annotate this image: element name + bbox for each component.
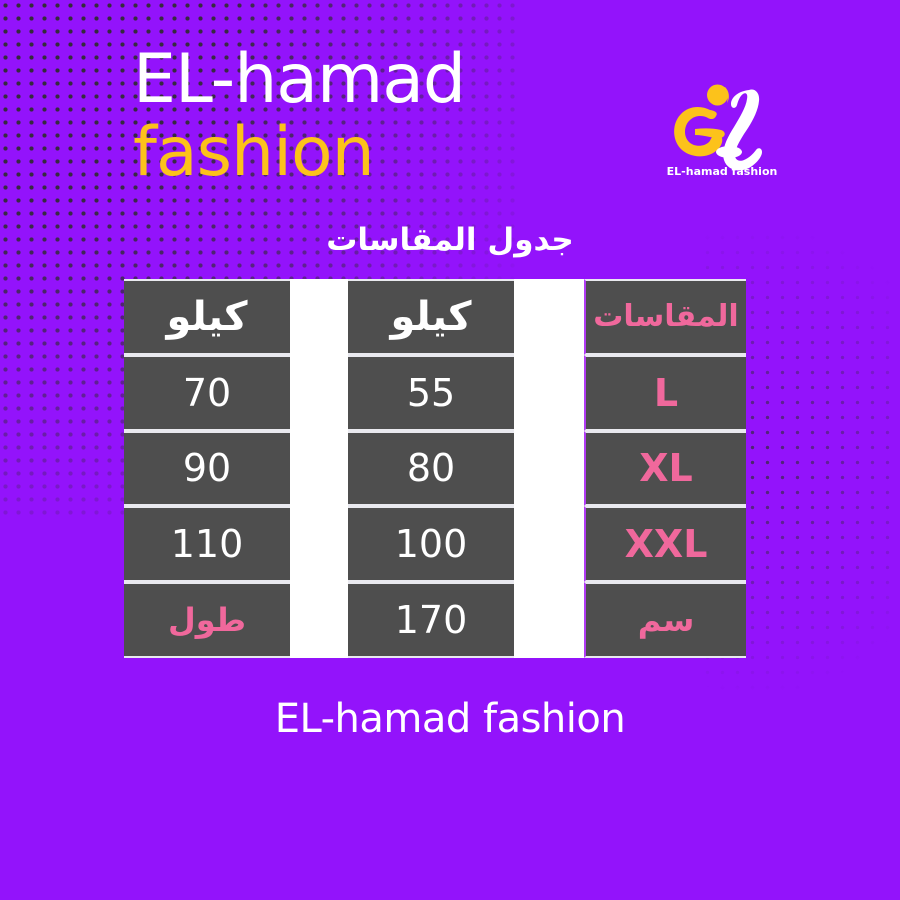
header-cell-kilo-1: كيلو [348, 279, 514, 355]
column-gap-2 [290, 279, 348, 355]
column-gap-1 [514, 506, 584, 582]
column-gap-1 [514, 582, 584, 658]
footer-brand: EL-hamad fashion [0, 696, 900, 742]
logo-badge: EL-hamad fashion [653, 57, 791, 195]
brand-line-2: fashion [133, 121, 465, 186]
table-row: سم 170 طول [124, 582, 746, 658]
row-xl-col2: 80 [348, 431, 514, 507]
column-gap-1 [514, 431, 584, 507]
row-label-l: L [584, 355, 746, 431]
column-gap-2 [290, 355, 348, 431]
row-xl-col3: 90 [124, 431, 290, 507]
column-gap-2 [290, 431, 348, 507]
poster-canvas: EL-hamad fashion EL-hamad fashion جدول ا… [0, 0, 900, 900]
row-l-col2: 55 [348, 355, 514, 431]
table-row: XXL 100 110 [124, 506, 746, 582]
column-gap-1 [514, 279, 584, 355]
size-chart-table: المقاسات كيلو كيلو L 55 70 XL 80 90 XXL … [124, 279, 746, 658]
column-gap-2 [290, 582, 348, 658]
column-gap-2 [290, 506, 348, 582]
row-xxl-col2: 100 [348, 506, 514, 582]
column-gap-1 [514, 355, 584, 431]
brand-line-1: EL-hamad [133, 48, 465, 113]
row-l-col3: 70 [124, 355, 290, 431]
page-title: جدول المقاسات [0, 222, 900, 258]
row-label-cm: سم [584, 582, 746, 658]
row-cm-col2: 170 [348, 582, 514, 658]
header-cell-sizes: المقاسات [584, 279, 746, 355]
row-label-xl: XL [584, 431, 746, 507]
row-xxl-col3: 110 [124, 506, 290, 582]
row-cm-col3: طول [124, 582, 290, 658]
table-row: L 55 70 [124, 355, 746, 431]
table-header-row: المقاسات كيلو كيلو [124, 279, 746, 355]
brand-headline: EL-hamad fashion [133, 48, 465, 185]
table-row: XL 80 90 [124, 431, 746, 507]
header-cell-kilo-2: كيلو [124, 279, 290, 355]
logo-caption: EL-hamad fashion [667, 165, 778, 178]
row-label-xxl: XXL [584, 506, 746, 582]
